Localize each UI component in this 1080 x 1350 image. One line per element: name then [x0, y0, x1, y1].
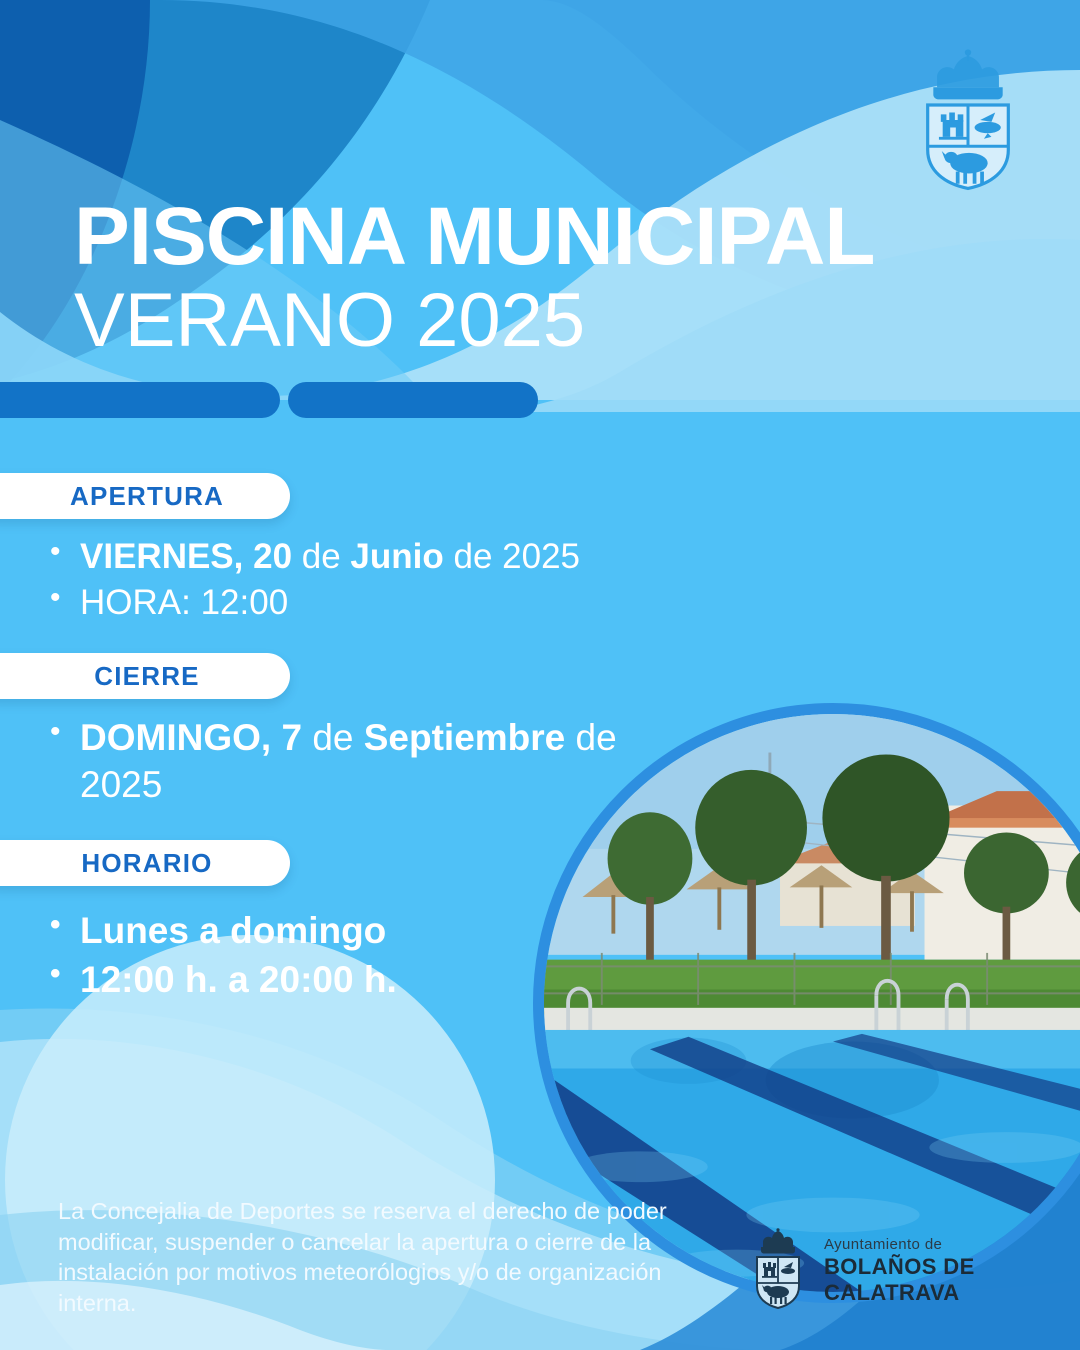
- item-part: VIERNES, 20: [80, 537, 302, 576]
- pill-label-apertura: APERTURA: [42, 481, 224, 512]
- pill-label-horario: HORARIO: [53, 848, 212, 879]
- underline-bar-left: [0, 382, 280, 418]
- section-apertura: APERTURA VIERNES, 20 de Junio de 2025 HO…: [0, 473, 760, 627]
- list-apertura: VIERNES, 20 de Junio de 2025 HORA: 12:00: [0, 535, 760, 625]
- disclaimer-text: La Concejalia de Deportes se reserva el …: [58, 1196, 718, 1318]
- pill-horario: HORARIO: [0, 840, 290, 886]
- footer-logo-line-big: BOLAÑOS DE CALATRAVA: [824, 1254, 1080, 1306]
- item-part: DOMINGO, 7: [80, 717, 312, 758]
- title-line-2: VERANO 2025: [74, 278, 974, 363]
- list-item: HORA: 12:00: [80, 581, 760, 625]
- footer-logo-line-small: Ayuntamiento de: [824, 1236, 1080, 1253]
- coat-of-arms-icon: [742, 1228, 814, 1314]
- title-line-1: PISCINA MUNICIPAL: [74, 198, 992, 276]
- footer-logo: Ayuntamiento de BOLAÑOS DE CALATRAVA: [742, 1228, 1080, 1314]
- pill-cierre: CIERRE: [0, 653, 290, 699]
- pill-label-cierre: CIERRE: [66, 661, 199, 692]
- coat-of-arms-icon: [893, 45, 1043, 195]
- underline-bar-right: [288, 382, 538, 418]
- poster-title: PISCINA MUNICIPAL VERANO 2025: [74, 198, 974, 363]
- list-item: VIERNES, 20 de Junio de 2025: [80, 535, 760, 579]
- item-part: Junio: [350, 537, 453, 576]
- item-part: de: [312, 717, 363, 758]
- poster-root: PISCINA MUNICIPAL VERANO 2025 APERTURA V…: [0, 0, 1080, 1350]
- pill-apertura: APERTURA: [0, 473, 290, 519]
- item-part: de 2025: [453, 537, 580, 576]
- item-part: de: [302, 537, 351, 576]
- footer-logo-text: Ayuntamiento de BOLAÑOS DE CALATRAVA: [824, 1236, 1080, 1306]
